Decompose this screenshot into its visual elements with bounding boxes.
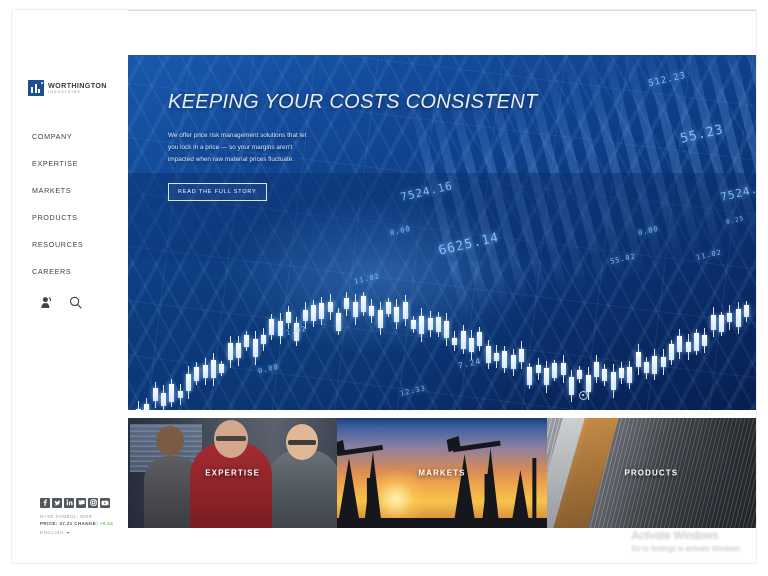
candlestick [477, 332, 482, 346]
candlestick [328, 302, 333, 312]
candlestick [169, 384, 174, 402]
logo-name: WORTHINGTON [48, 82, 107, 89]
candlestick [711, 315, 716, 330]
candlestick [486, 346, 491, 363]
sidebar-item-expertise[interactable]: EXPERTISE [32, 159, 127, 168]
search-icon[interactable] [69, 296, 82, 309]
candlestick [619, 368, 624, 378]
sidebar-item-resources[interactable]: RESOURCES [32, 240, 127, 249]
candlestick [544, 368, 549, 385]
candlestick [527, 367, 532, 385]
facebook-icon[interactable] [40, 498, 50, 508]
candlestick [311, 305, 316, 321]
screenshot-root: WORTHINGTON INDUSTRIES COMPANY EXPERTISE… [0, 0, 768, 576]
candlestick [736, 309, 741, 327]
candlestick [511, 355, 516, 369]
candlestick [361, 296, 366, 312]
tile-label-expertise: EXPERTISE [128, 469, 337, 478]
candlestick [386, 302, 391, 314]
chevron-down-icon [66, 532, 70, 534]
candlestick [602, 369, 607, 380]
site-logo[interactable]: WORTHINGTON INDUSTRIES [28, 80, 107, 96]
candlestick [319, 303, 324, 319]
candlestick [444, 321, 449, 338]
logo-subtitle: INDUSTRIES [48, 91, 107, 95]
ticker-change-label: CHANGE: [74, 521, 98, 526]
instagram-icon[interactable] [88, 498, 98, 508]
candlestick [502, 351, 507, 368]
candlestick [677, 336, 682, 352]
candlestick [661, 357, 666, 367]
browser-page-frame: WORTHINGTON INDUSTRIES COMPANY EXPERTISE… [12, 10, 756, 563]
candlestick [144, 404, 149, 410]
candlestick [652, 356, 657, 374]
linkedin-icon[interactable] [64, 498, 74, 508]
ticker-price-row: PRICE: 47.21 CHANGE: +0.44 [40, 521, 140, 526]
candlestick [278, 321, 283, 337]
candlestick [186, 374, 191, 391]
candlestick [228, 343, 233, 360]
candlestick [577, 370, 582, 379]
candlestick [744, 305, 749, 317]
candlestick [727, 313, 732, 322]
candlestick [269, 319, 274, 335]
sidebar-item-careers[interactable]: CAREERS [32, 267, 127, 276]
ticker-price-value: 47.21 [59, 521, 72, 526]
candlestick [461, 331, 466, 349]
ticker-price-label: PRICE: [40, 521, 58, 526]
utility-icon-row [40, 296, 82, 309]
expertise-person-3-glasses [288, 440, 316, 445]
ticker-change-value: +0.44 [100, 521, 113, 526]
candlestick [561, 363, 566, 375]
language-selector[interactable]: ENGLISH [40, 530, 140, 535]
candlestick [236, 343, 241, 358]
candlestick [644, 362, 649, 373]
twitter-icon[interactable] [52, 498, 62, 508]
sidebar-item-markets[interactable]: MARKETS [32, 186, 127, 195]
candlestick [569, 377, 574, 395]
hero-description: We offer price risk management solutions… [168, 130, 318, 166]
expertise-person-1-head [156, 426, 184, 456]
social-links [40, 498, 140, 508]
hero-content: KEEPING YOUR COSTS CONSISTENT We offer p… [168, 91, 598, 201]
tile-expertise[interactable]: EXPERTISE [128, 418, 337, 528]
candlestick [452, 338, 457, 346]
candlestick [428, 318, 433, 331]
feature-tiles: EXPERTISE [128, 418, 756, 528]
candlestick [244, 335, 249, 347]
hero-candlestick-chart [128, 180, 756, 410]
tile-label-markets: MARKETS [337, 469, 546, 478]
logo-wordmark: WORTHINGTON INDUSTRIES [48, 82, 107, 94]
candlestick [686, 342, 691, 352]
candlestick [153, 388, 158, 402]
candlestick [253, 339, 258, 357]
candlestick [669, 344, 674, 360]
tile-products[interactable]: PRODUCTS [547, 418, 756, 528]
candlestick [286, 312, 291, 323]
worthington-logo-mark [28, 80, 44, 96]
candlestick [303, 310, 308, 320]
candlestick [719, 315, 724, 332]
candlestick [419, 316, 424, 334]
candlestick [469, 338, 474, 351]
candlestick [552, 363, 557, 378]
hero-banner: 512.2355.237524.167524.166625.140.000.00… [128, 55, 756, 410]
candlestick [586, 375, 591, 392]
youtube-icon[interactable] [100, 498, 110, 508]
candlestick [261, 335, 266, 344]
candlestick [136, 409, 141, 410]
candlestick [627, 367, 632, 383]
sidebar-footer: NYSE SYMBOL: WOR PRICE: 47.21 CHANGE: +0… [40, 498, 140, 536]
hero-carousel-dot[interactable] [579, 391, 588, 400]
candlestick [219, 364, 224, 373]
candlestick [436, 317, 441, 331]
candlestick [594, 362, 599, 377]
candlestick [211, 360, 216, 378]
sidebar-item-products[interactable]: PRODUCTS [32, 213, 127, 222]
candlestick [378, 310, 383, 328]
candlestick [403, 302, 408, 319]
expertise-person-2-glasses [216, 436, 246, 441]
candlestick [519, 349, 524, 362]
candlestick [411, 320, 416, 328]
candlestick [336, 313, 341, 331]
candlestick [611, 372, 616, 390]
candlestick [494, 353, 499, 360]
ticker-symbol: NYSE SYMBOL: WOR [40, 514, 140, 519]
page-bottom-whitespace [128, 528, 756, 563]
expertise-person-3 [268, 450, 337, 528]
language-label: ENGLISH [40, 530, 64, 535]
sidebar-item-company[interactable]: COMPANY [32, 132, 127, 141]
candlestick [353, 302, 358, 317]
tile-label-products: PRODUCTS [547, 469, 756, 478]
candlestick [194, 367, 199, 381]
candlestick [636, 352, 641, 368]
flickr-icon[interactable] [76, 498, 86, 508]
candlestick [394, 307, 399, 322]
candlestick [203, 365, 208, 377]
candlestick [369, 306, 374, 315]
candlestick [694, 333, 699, 351]
contact-icon[interactable] [40, 296, 53, 309]
tile-markets[interactable]: MARKETS [337, 418, 546, 528]
candlestick [178, 391, 183, 399]
candlestick [161, 393, 166, 406]
left-sidebar: WORTHINGTON INDUSTRIES COMPANY EXPERTISE… [12, 10, 128, 563]
candlestick [344, 298, 349, 309]
candlestick [702, 335, 707, 346]
hero-headline: KEEPING YOUR COSTS CONSISTENT [168, 91, 598, 114]
read-the-full-story-button[interactable]: READ THE FULL STORY [168, 183, 267, 201]
main-navigation: COMPANY EXPERTISE MARKETS PRODUCTS RESOU… [32, 132, 127, 294]
candlestick [536, 365, 541, 373]
